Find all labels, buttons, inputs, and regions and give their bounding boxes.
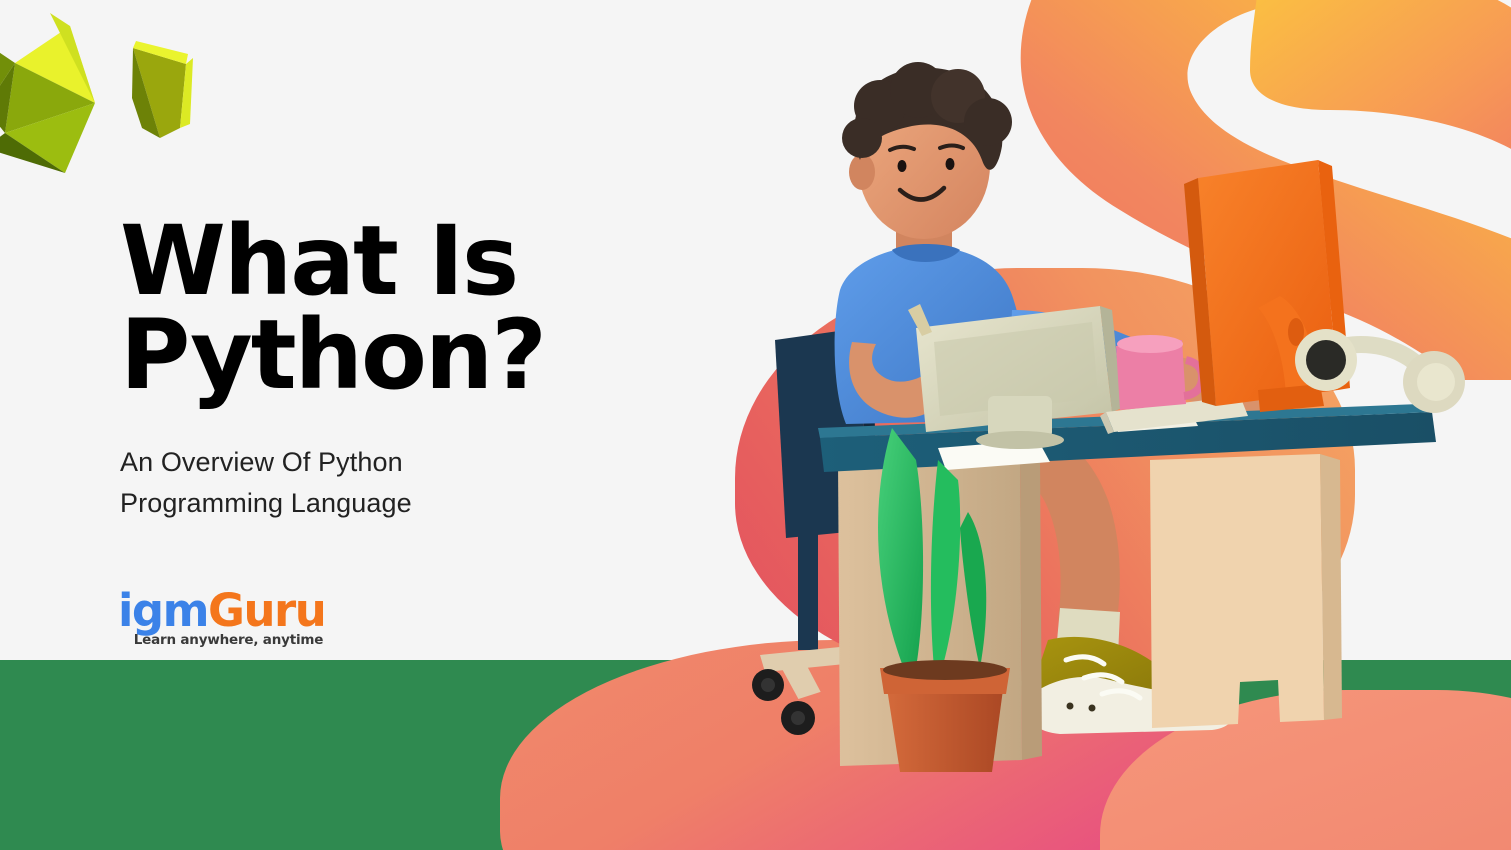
logo-tagline: Learn anywhere, anytime xyxy=(118,632,325,648)
page-title: What Is Python? xyxy=(120,214,640,402)
person-at-desk-illustration xyxy=(720,60,1511,780)
logo-text-igm: igm xyxy=(118,584,208,637)
polygon-large xyxy=(0,13,95,173)
logo-text-guru: Guru xyxy=(208,584,325,637)
polygon-decoration-group xyxy=(0,8,220,188)
headline-line-2: Python? xyxy=(120,308,640,402)
banner: What Is Python? An Overview Of Python Pr… xyxy=(0,0,1511,850)
page-subtitle: An Overview Of Python Programming Langua… xyxy=(120,442,640,524)
text-column: What Is Python? An Overview Of Python Pr… xyxy=(120,214,640,524)
subtitle-line-1: An Overview Of Python xyxy=(120,447,403,477)
subtitle-line-2: Programming Language xyxy=(120,488,412,518)
igmguru-logo[interactable]: igmGuru Learn anywhere, anytime xyxy=(118,588,325,648)
logo-wordmark: igmGuru xyxy=(118,588,325,633)
polygon-small xyxy=(132,41,193,138)
